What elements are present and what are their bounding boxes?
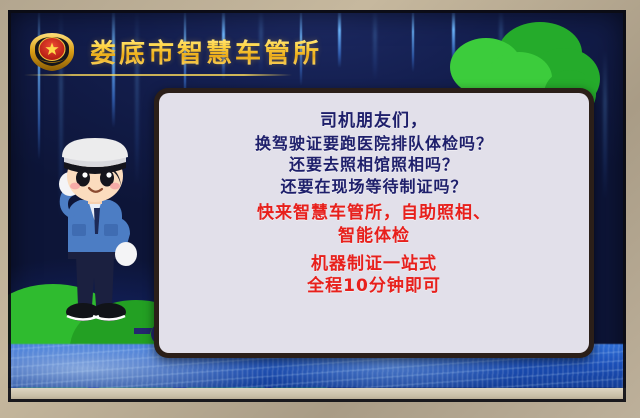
signboard-header: 娄底市智慧车管所: [26, 28, 322, 74]
message-line: 机器制证一站式: [159, 253, 589, 276]
photograph-of-signboard: 娄底市智慧车管所: [0, 0, 640, 418]
message-line: 快来智慧车管所，自助照相、: [159, 202, 589, 225]
message-line: 司机朋友们，: [159, 110, 589, 133]
message-line: 换驾驶证要跑医院排队体检吗？: [159, 133, 589, 154]
china-police-badge-icon: [26, 28, 78, 74]
led-signboard: 娄底市智慧车管所: [8, 10, 626, 402]
falling-light-beam: [412, 10, 414, 72]
saluting-police-officer-mascot: [34, 138, 156, 338]
content-panel: 司机朋友们， 换驾驶证要跑医院排队体检吗？ 还要去照相馆照相吗？ 还要在现场等待…: [159, 93, 589, 353]
message-line: 还要在现场等待制证吗？: [159, 176, 589, 197]
falling-light-beam: [604, 50, 606, 200]
bottom-light-bar: [8, 388, 626, 402]
falling-light-beam: [338, 10, 341, 68]
content-panel-frame: 司机朋友们， 换驾驶证要跑医院排队体检吗？ 还要去照相馆照相吗？ 还要在现场等待…: [154, 88, 594, 358]
message-line: 全程10分钟即可: [159, 275, 589, 298]
falling-light-beam: [374, 10, 376, 80]
page-title: 娄底市智慧车管所: [90, 33, 322, 70]
message-line: 智能体检: [159, 225, 589, 248]
title-underline: [24, 74, 292, 76]
message-line: 还要去照相馆照相吗？: [159, 154, 589, 175]
